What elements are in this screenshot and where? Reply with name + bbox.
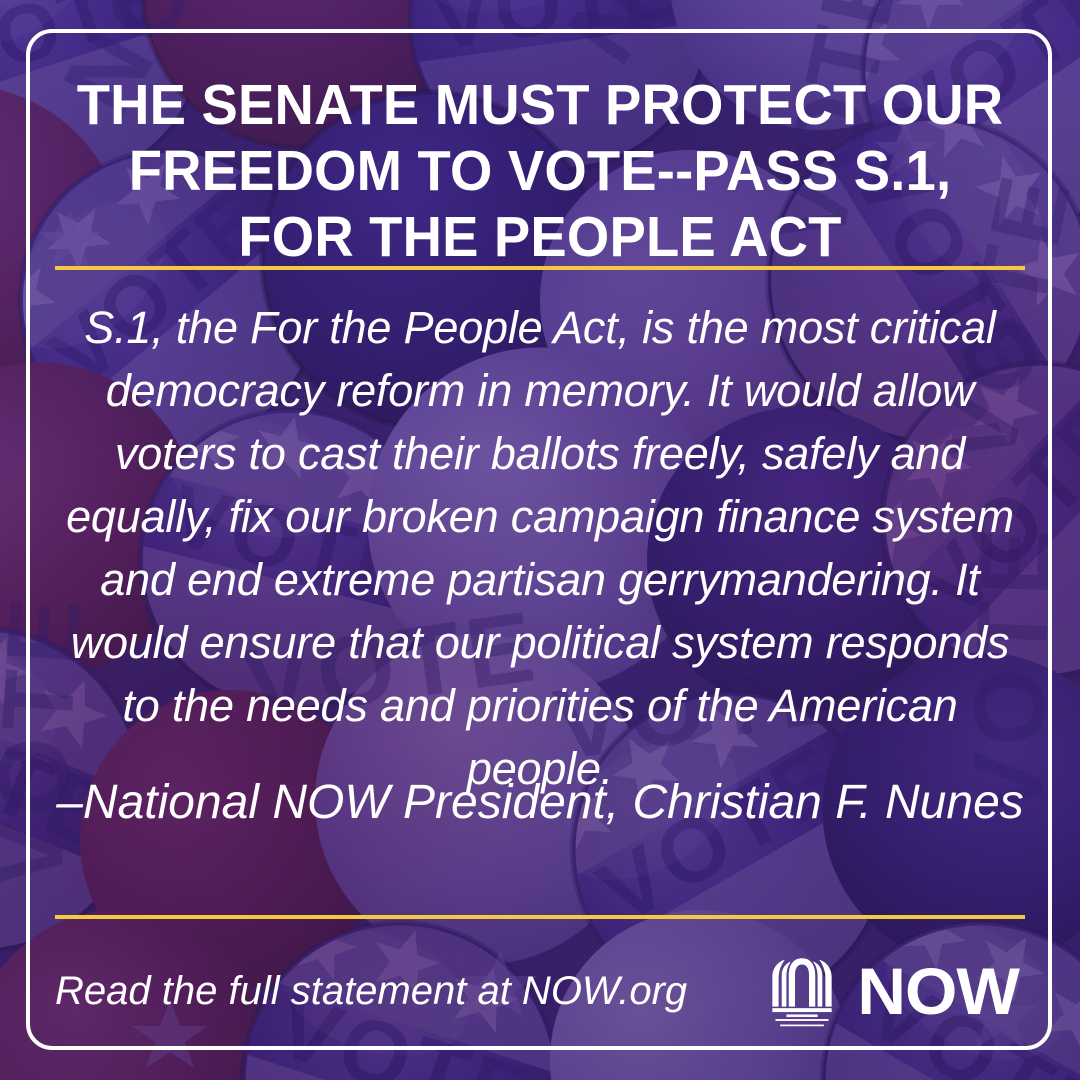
gold-divider-bottom <box>55 915 1025 919</box>
gold-divider-top <box>55 266 1025 270</box>
now-emblem-icon <box>763 952 841 1030</box>
now-wordmark: NOW <box>857 958 1018 1024</box>
now-logo-lockup[interactable]: NOW <box>763 952 1025 1030</box>
footer-bar: Read the full statement at NOW.org <box>55 945 1025 1037</box>
content-layer: THE SENATE MUST PROTECT OUR FREEDOM TO V… <box>0 0 1080 1080</box>
quote-text: S.1, the For the People Act, is the most… <box>50 296 1030 800</box>
social-graphic-canvas: VOTE <box>0 0 1080 1080</box>
read-full-statement-link[interactable]: Read the full statement at NOW.org <box>55 968 687 1014</box>
page-title: THE SENATE MUST PROTECT OUR FREEDOM TO V… <box>76 72 1004 270</box>
quote-attribution: –National NOW President, Christian F. Nu… <box>50 770 1030 835</box>
